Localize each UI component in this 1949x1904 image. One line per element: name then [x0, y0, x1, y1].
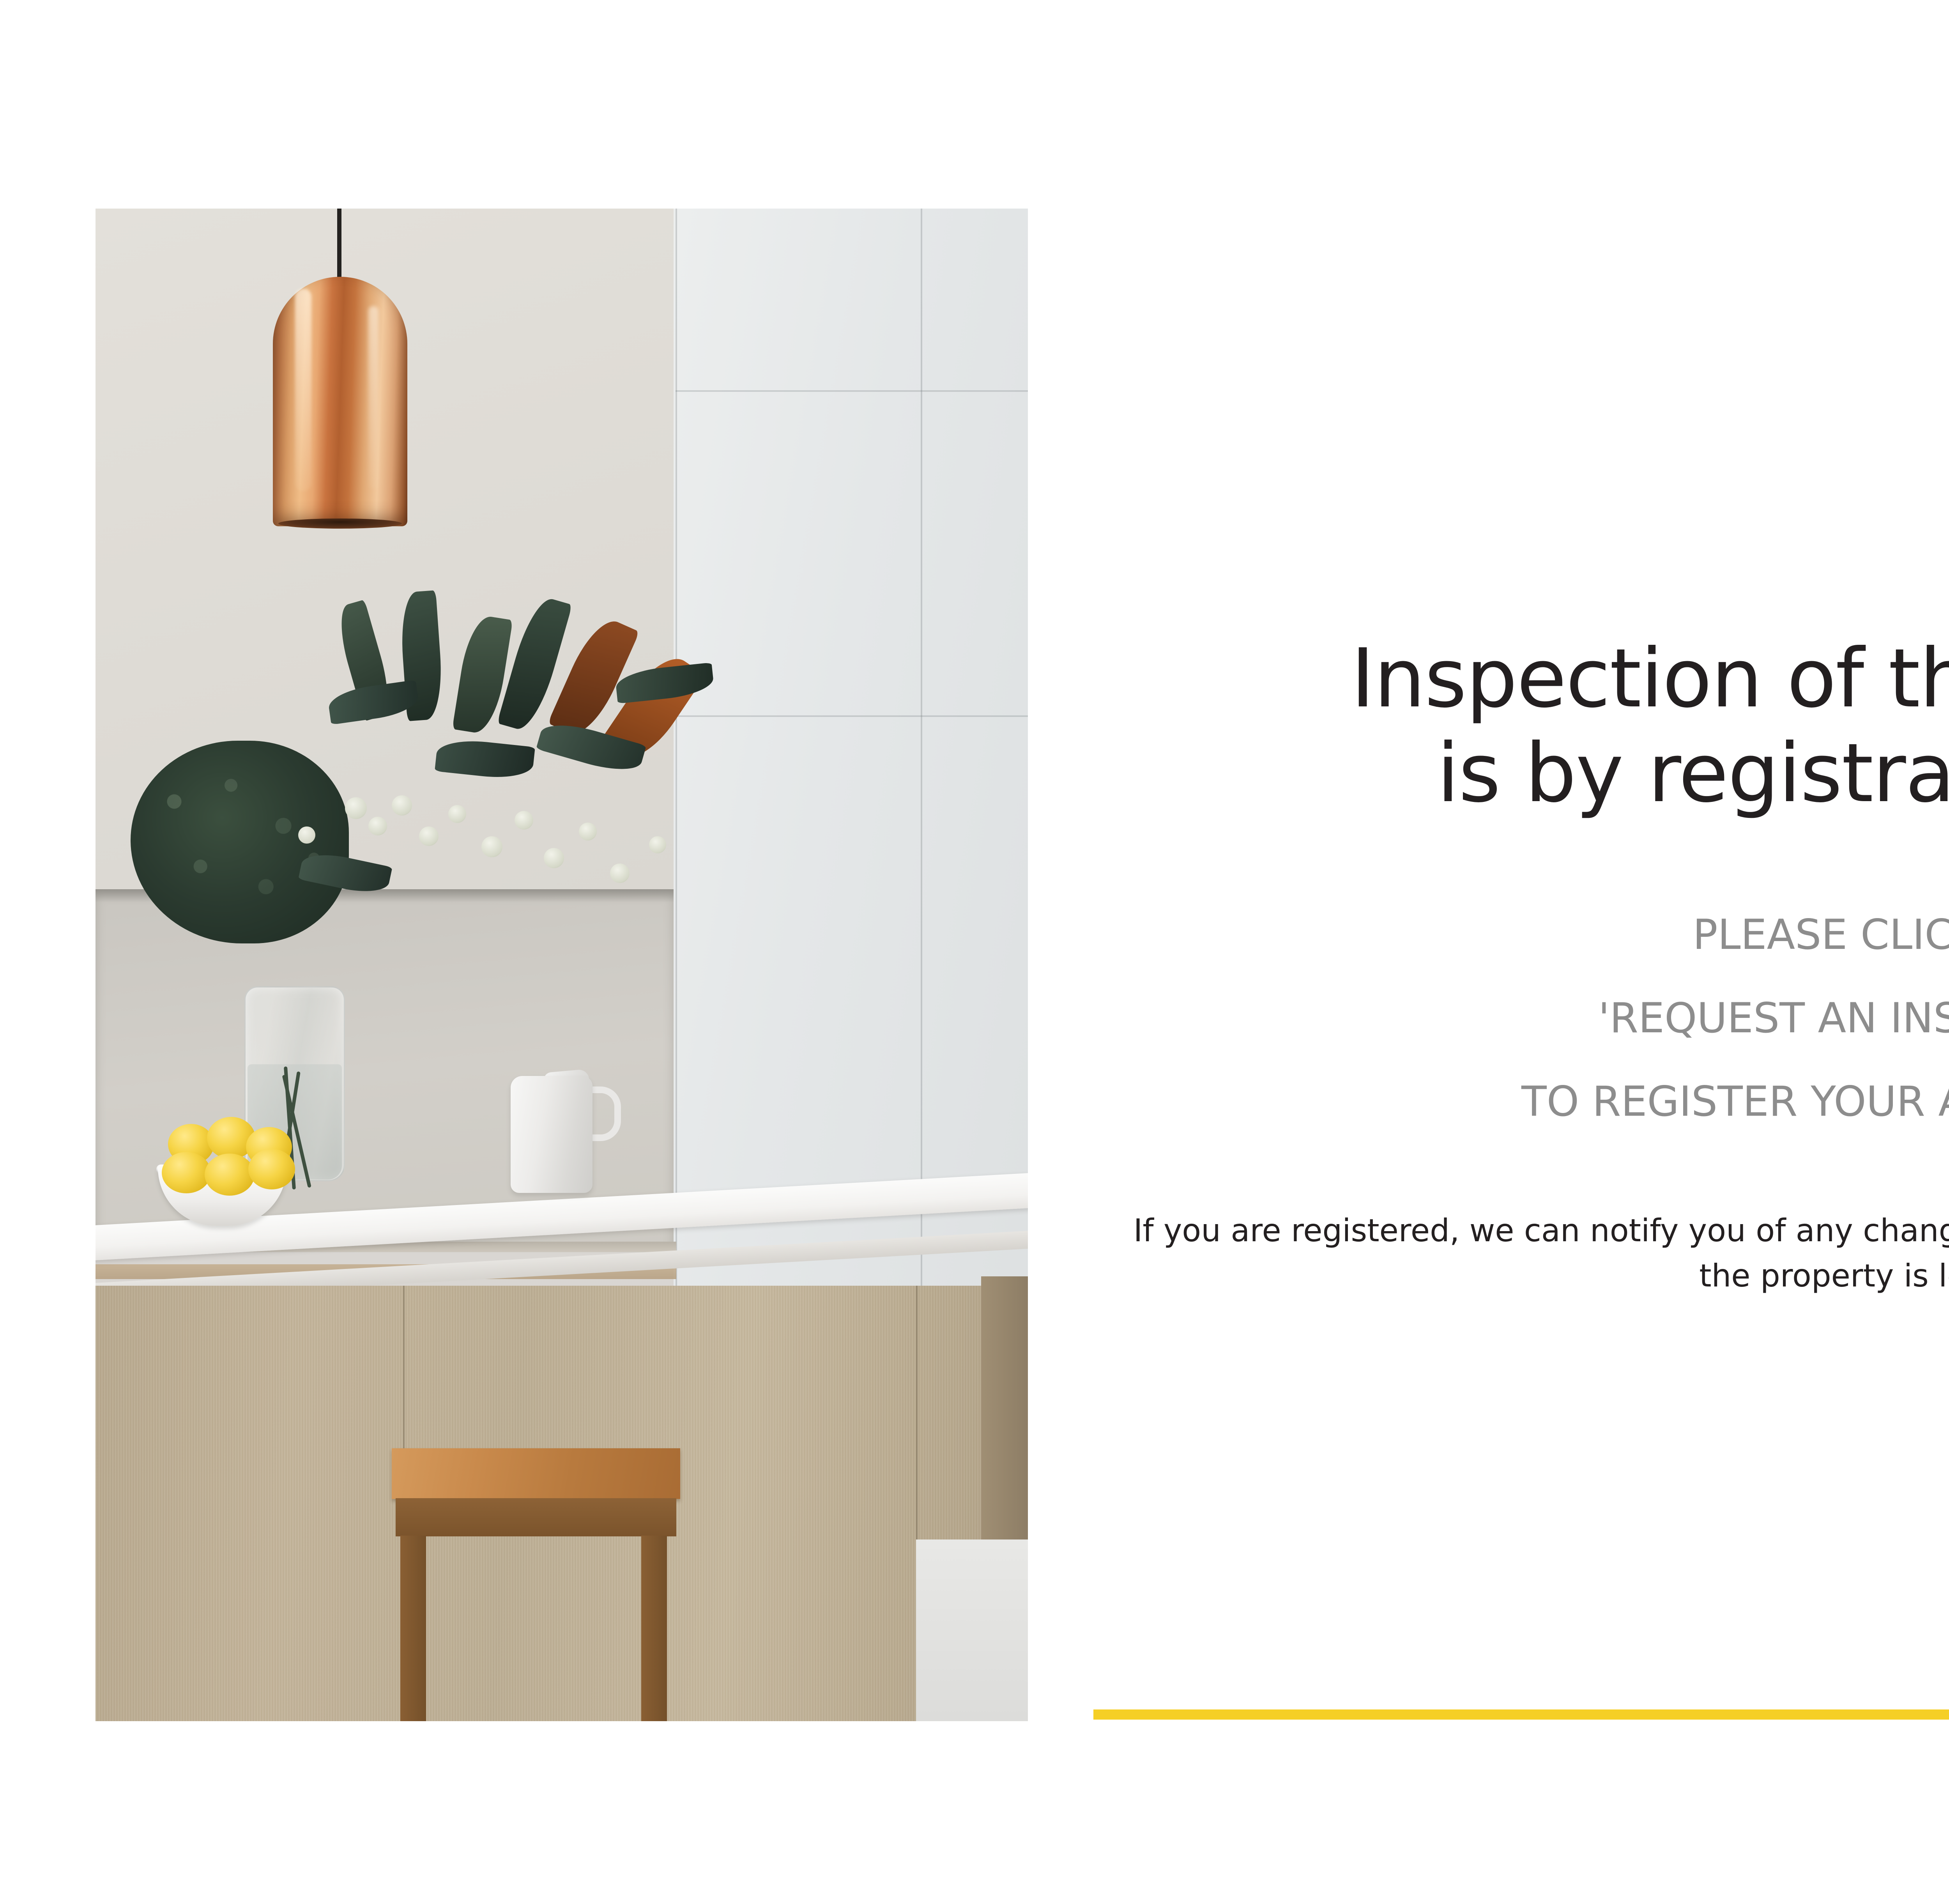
registration-note: If you are registered, we can notify you… — [1115, 1208, 1949, 1299]
instruction-line-2: 'REQUEST AN INSPECTION' — [1076, 998, 1949, 1039]
copper-pendant-light — [273, 277, 407, 526]
pendant-highlight-1 — [295, 288, 311, 491]
cabinet-seam-3 — [676, 390, 1028, 392]
yellow-divider-rule — [1093, 1709, 1949, 1720]
page-title: Inspection of this property is by regist… — [1181, 632, 1949, 821]
lemon-4 — [162, 1152, 211, 1193]
bloom-cluster-6 — [481, 836, 502, 857]
tiled-floor — [916, 1539, 1028, 1721]
bloom-cluster-1 — [345, 797, 367, 819]
instruction-line-3: TO REGISTER YOUR ATTENDANCE. — [1076, 1081, 1949, 1122]
bloom-cluster-5 — [448, 805, 466, 823]
bloom-cluster-9 — [579, 823, 597, 841]
bloom-cluster-8 — [544, 848, 564, 868]
headline-line-2: is by registration only. — [1181, 726, 1949, 821]
stool-seat — [392, 1448, 680, 1499]
pendant-cord — [337, 209, 341, 283]
bloom-cluster-4 — [419, 826, 439, 846]
bloom-cluster-11 — [298, 826, 315, 844]
hydrangea-texture — [131, 741, 349, 943]
bloom-cluster-10 — [610, 864, 630, 883]
stool-leg-right — [641, 1536, 667, 1721]
bloom-cluster-7 — [515, 811, 533, 830]
stool-leg-left — [400, 1536, 426, 1721]
headline-line-1: Inspection of this property — [1181, 632, 1949, 726]
pendant-highlight-2 — [368, 306, 378, 489]
message-column: Inspection of this property is by regist… — [1076, 632, 1949, 1299]
lemon-5 — [205, 1154, 255, 1196]
ceramic-pitcher — [511, 1076, 592, 1193]
cabinet-seam-4 — [676, 715, 1028, 717]
stool-apron — [396, 1498, 676, 1536]
property-photo — [96, 209, 1028, 1721]
bloom-cluster-3 — [392, 795, 412, 816]
lemon-6 — [248, 1149, 295, 1189]
bloom-cluster-2 — [368, 817, 387, 835]
instruction-block: PLEASE CLICK ON 'REQUEST AN INSPECTION' … — [1076, 914, 1949, 1122]
wooden-stool — [392, 1448, 680, 1721]
instruction-line-1: PLEASE CLICK ON — [1076, 914, 1949, 956]
bloom-cluster-12 — [649, 836, 666, 853]
